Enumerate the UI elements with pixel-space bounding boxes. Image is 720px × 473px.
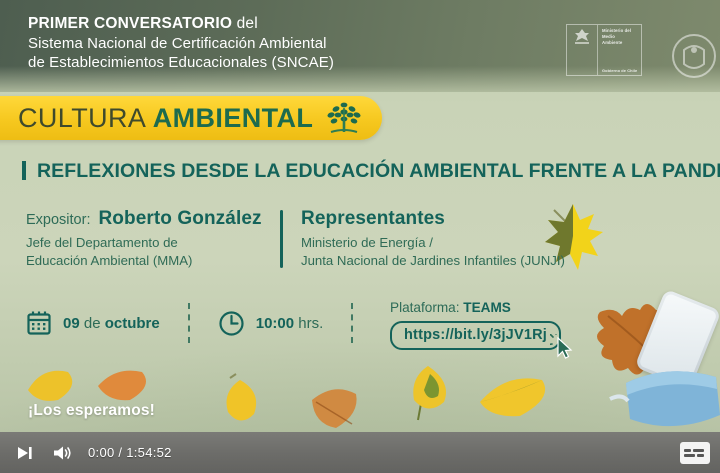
platform-label: Plataforma: TEAMS xyxy=(390,300,561,315)
time-display: 0:00 / 1:54:52 xyxy=(88,445,172,460)
corner-watermark-icon xyxy=(672,28,720,88)
clock-icon xyxy=(218,310,245,337)
header-line-3: de Establecimientos Educacionales (SNCAE… xyxy=(28,53,334,72)
banner-text: CULTURA AMBIENTAL xyxy=(18,103,313,134)
ministry-footer: Gobierno de Chile xyxy=(602,68,641,73)
expositor-role: Jefe del Departamento de Educación Ambie… xyxy=(26,234,280,270)
orange-leaf-decoration xyxy=(96,364,154,404)
subtitles-icon xyxy=(684,449,706,452)
expositor-block: Expositor: Roberto González Jefe del Dep… xyxy=(26,208,280,270)
large-yellow-leaf-decoration xyxy=(476,368,554,422)
meeting-link[interactable]: https://bit.ly/3jJV1Rj xyxy=(390,321,561,350)
event-header: PRIMER CONVERSATORIO del Sistema Naciona… xyxy=(28,14,334,72)
yellow-leaf-decoration xyxy=(24,360,82,406)
tree-icon xyxy=(325,98,365,138)
volume-icon xyxy=(53,445,73,461)
representantes-title: Representantes xyxy=(301,208,565,230)
info-dashed-divider xyxy=(188,303,190,343)
face-mask-decoration xyxy=(608,353,720,439)
next-track-icon xyxy=(17,446,33,460)
page-title: REFLEXIONES DESDE LA EDUCACIÓN AMBIENTAL… xyxy=(22,160,720,183)
speakers-divider xyxy=(280,210,283,268)
representantes-block: Representantes Ministerio de Energía / J… xyxy=(301,208,565,270)
page-title-text: REFLEXIONES DESDE LA EDUCACIÓN AMBIENTAL… xyxy=(37,160,720,182)
speakers-section: Expositor: Roberto González Jefe del Dep… xyxy=(26,208,565,270)
expositor-label: Expositor: xyxy=(26,212,90,228)
info-dashed-divider xyxy=(351,303,353,343)
date-item: 09 de octubre xyxy=(26,310,160,336)
ministry-name-line-3: Ambiente xyxy=(602,40,641,46)
header-line-2: Sistema Nacional de Certificación Ambien… xyxy=(28,34,334,53)
next-track-button[interactable] xyxy=(10,438,40,468)
platform-section: Plataforma: TEAMS https://bit.ly/3jJV1Rj xyxy=(390,300,561,350)
calendar-icon xyxy=(26,310,52,336)
title-accent-bar xyxy=(22,161,26,180)
crest-icon xyxy=(567,25,598,75)
brown-leaf-decoration xyxy=(308,380,362,432)
cultura-ambiental-banner: CULTURA AMBIENTAL xyxy=(0,96,382,140)
cursor-click-icon xyxy=(550,334,576,362)
representantes-orgs: Ministerio de Energía / Junta Nacional d… xyxy=(301,234,565,270)
volume-button[interactable] xyxy=(48,438,78,468)
subtitles-button[interactable] xyxy=(680,442,710,464)
expositor-name: Roberto González xyxy=(98,208,261,230)
event-info-row: 09 de octubre 10:00 hrs. xyxy=(26,303,381,343)
time-text: 10:00 hrs. xyxy=(256,315,324,332)
video-control-bar[interactable]: 0:00 / 1:54:52 xyxy=(0,432,720,473)
header-line-1: PRIMER CONVERSATORIO del xyxy=(28,14,334,34)
closing-message: ¡Los esperamos! xyxy=(28,402,155,420)
yellow-leaf-decoration xyxy=(218,372,266,428)
video-player: PRIMER CONVERSATORIO del Sistema Naciona… xyxy=(0,0,720,473)
date-text: 09 de octubre xyxy=(63,315,160,332)
green-yellow-leaf-decoration xyxy=(404,362,454,424)
time-item: 10:00 hrs. xyxy=(218,310,324,337)
ministry-logo: Ministerio del Medio Ambiente Gobierno d… xyxy=(566,24,642,76)
